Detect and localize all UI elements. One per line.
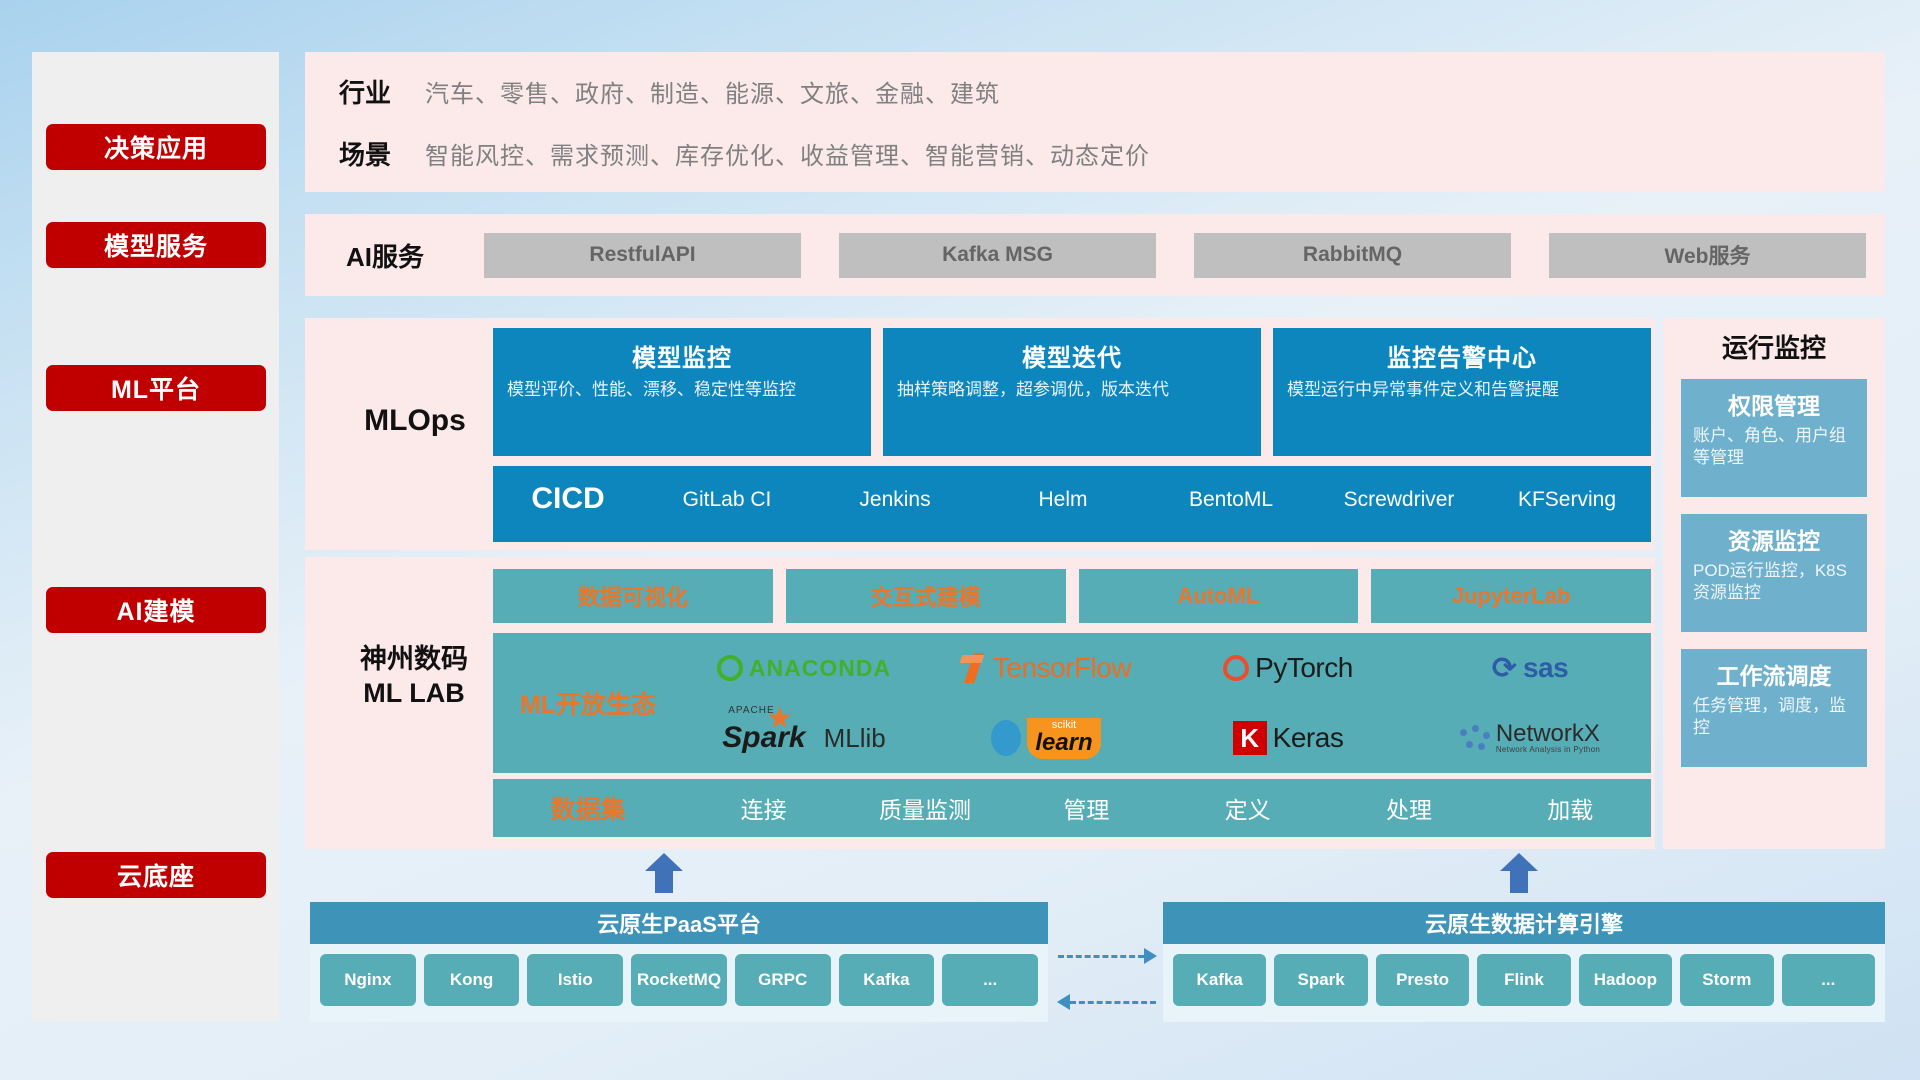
anaconda-wordmark: ANACONDA (749, 655, 891, 682)
ml-lab-label-line2: ML LAB (363, 678, 465, 708)
networkx-tagline: Network Analysis in Python (1496, 746, 1600, 754)
connector-arrow-right (1144, 948, 1157, 964)
ml-open-ecosystem-panel: ML开放生态 ANACONDA TensorFlow PyTorch (493, 633, 1651, 773)
lab-chip-jupyterlab[interactable]: JupyterLab (1371, 569, 1651, 623)
engine-chip-hadoop[interactable]: Hadoop (1579, 954, 1672, 1006)
mlops-card-desc: 抽样策略调整，超参调优，版本迭代 (897, 379, 1247, 401)
run-monitor-card-resource[interactable]: 资源监控 POD运行监控，K8S资源监控 (1681, 514, 1867, 632)
ml-lab-label: 神州数码 ML LAB (319, 643, 509, 711)
networkx-logo: NetworkX Network Analysis in Python (1460, 722, 1600, 754)
industry-label: 行业 (305, 73, 425, 110)
cicd-item-screwdriver[interactable]: Screwdriver (1315, 466, 1483, 512)
run-monitor-title: 运行监控 (1663, 328, 1885, 365)
engine-chip-more[interactable]: ... (1782, 954, 1875, 1006)
left-rail: 决策应用 模型服务 ML平台 AI建模 云底座 (32, 52, 279, 1022)
sas-logo: ⟳ sas (1492, 651, 1568, 686)
engine-chip-flink[interactable]: Flink (1477, 954, 1570, 1006)
scenario-value: 智能风控、需求预测、库存优化、收益管理、智能营销、动态定价 (425, 136, 1150, 171)
anaconda-ring-icon (717, 655, 743, 681)
connector-arrow-left (1057, 994, 1070, 1010)
keras-wordmark: Keras (1273, 722, 1344, 754)
engine-chip-kafka[interactable]: Kafka (1173, 954, 1266, 1006)
sas-wordmark: sas (1523, 652, 1568, 684)
run-monitor-card-desc: 任务管理，调度，监控 (1693, 695, 1855, 739)
engine-chip-storm[interactable]: Storm (1680, 954, 1773, 1006)
spark-apache-word: APACHE (728, 705, 774, 716)
rail-chip-decision-app[interactable]: 决策应用 (46, 124, 266, 170)
paas-chip-more[interactable]: ... (942, 954, 1038, 1006)
mlops-card-desc: 模型运行中异常事件定义和告警提醒 (1287, 379, 1637, 401)
connector-dash-right (1058, 955, 1144, 958)
run-monitor-card-title: 权限管理 (1693, 387, 1855, 421)
cicd-title: CICD (493, 466, 643, 516)
paas-chip-row: Nginx Kong Istio RocketMQ GRPC Kafka ... (310, 944, 1048, 1016)
mlops-card-title: 模型迭代 (897, 338, 1247, 373)
cicd-item-kfserving[interactable]: KFServing (1483, 466, 1651, 512)
mlops-card-model-iteration[interactable]: 模型迭代 抽样策略调整，超参调优，版本迭代 (883, 328, 1261, 456)
ai-service-chip-kafka-msg[interactable]: Kafka MSG (839, 233, 1156, 278)
rail-chip-ai-modeling[interactable]: AI建模 (46, 587, 266, 633)
anaconda-logo: ANACONDA (717, 655, 891, 682)
ml-lab-band: 神州数码 ML LAB 数据可视化 交互式建模 AutoML JupyterLa… (305, 557, 1655, 849)
run-monitor-card-desc: 账户、角色、用户组等管理 (1693, 425, 1855, 469)
ai-service-chip-web-service[interactable]: Web服务 (1549, 233, 1866, 278)
tensorflow-mark-icon (961, 653, 987, 683)
sas-swirl-icon: ⟳ (1492, 651, 1517, 686)
cicd-item-gitlab-ci[interactable]: GitLab CI (643, 466, 811, 512)
paas-chip-rocketmq[interactable]: RocketMQ (631, 954, 727, 1006)
dataset-item-quality[interactable]: 质量监测 (844, 791, 1005, 825)
pytorch-flame-icon (1223, 655, 1249, 681)
up-arrow-paas (645, 853, 683, 893)
rail-chip-cloud-base[interactable]: 云底座 (46, 852, 266, 898)
scikit-blob-icon (991, 720, 1021, 756)
ml-lab-label-line1: 神州数码 (360, 644, 468, 674)
dataset-item-manage[interactable]: 管理 (1006, 791, 1167, 825)
paas-chip-nginx[interactable]: Nginx (320, 954, 416, 1006)
ml-open-ecosystem-title: ML开放生态 (493, 685, 683, 721)
dataset-title: 数据集 (493, 790, 683, 826)
keras-k-icon: K (1233, 721, 1267, 755)
industry-scenario-band: 行业 汽车、零售、政府、制造、能源、文旅、金融、建筑 场景 智能风控、需求预测、… (305, 52, 1885, 192)
data-engine-box: 云原生数据计算引擎 Kafka Spark Presto Flink Hadoo… (1163, 902, 1885, 1022)
mllib-wordmark: MLlib (824, 723, 886, 754)
industry-row: 行业 汽车、零售、政府、制造、能源、文旅、金融、建筑 (305, 52, 1885, 122)
ai-service-label: AI服务 (305, 237, 465, 274)
ai-service-chip-restfulapi[interactable]: RestfulAPI (484, 233, 801, 278)
up-arrow-engine (1500, 853, 1538, 893)
dataset-item-define[interactable]: 定义 (1167, 791, 1328, 825)
networkx-wordmark: NetworkX (1496, 722, 1600, 746)
ml-lab-tool-row: 数据可视化 交互式建模 AutoML JupyterLab (493, 569, 1651, 623)
pytorch-logo: PyTorch (1223, 652, 1353, 684)
paas-chip-istio[interactable]: Istio (527, 954, 623, 1006)
run-monitor-card-desc: POD运行监控，K8S资源监控 (1693, 560, 1855, 604)
dataset-item-load[interactable]: 加载 (1490, 791, 1651, 825)
lab-chip-automl[interactable]: AutoML (1079, 569, 1359, 623)
paas-chip-grpc[interactable]: GRPC (735, 954, 831, 1006)
run-monitor-card-workflow[interactable]: 工作流调度 任务管理，调度，监控 (1681, 649, 1867, 767)
paas-platform-title: 云原生PaaS平台 (310, 902, 1048, 944)
cicd-item-jenkins[interactable]: Jenkins (811, 466, 979, 512)
ai-service-chip-rabbitmq[interactable]: RabbitMQ (1194, 233, 1511, 278)
dataset-item-connect[interactable]: 连接 (683, 791, 844, 825)
engine-chip-presto[interactable]: Presto (1376, 954, 1469, 1006)
scikit-pill-icon: scikit learn (1027, 718, 1100, 759)
ai-service-band: AI服务 RestfulAPI Kafka MSG RabbitMQ Web服务 (305, 214, 1885, 296)
run-monitor-card-title: 资源监控 (1693, 522, 1855, 556)
dataset-row: 数据集 连接 质量监测 管理 定义 处理 加载 (493, 779, 1651, 837)
rail-chip-ml-platform[interactable]: ML平台 (46, 365, 266, 411)
paas-platform-box: 云原生PaaS平台 Nginx Kong Istio RocketMQ GRPC… (310, 902, 1048, 1022)
mlops-band: MLOps 模型监控 模型评价、性能、漂移、稳定性等监控 模型迭代 抽样策略调整… (305, 318, 1655, 550)
scenario-row: 场景 智能风控、需求预测、库存优化、收益管理、智能营销、动态定价 (305, 122, 1885, 184)
rail-chip-model-service[interactable]: 模型服务 (46, 222, 266, 268)
mlops-label: MLOps (325, 404, 505, 438)
mlops-card-title: 模型监控 (507, 338, 857, 373)
spark-mllib-logo: ★ APACHE Spark MLlib (722, 721, 886, 755)
keras-logo: K Keras (1233, 721, 1344, 755)
tensorflow-logo: TensorFlow (961, 652, 1131, 684)
dataset-item-process[interactable]: 处理 (1328, 791, 1489, 825)
connector-dash-left (1070, 1001, 1156, 1004)
architecture-diagram: 决策应用 模型服务 ML平台 AI建模 云底座 行业 汽车、零售、政府、制造、能… (0, 0, 1920, 1080)
run-monitor-card-permission[interactable]: 权限管理 账户、角色、用户组等管理 (1681, 379, 1867, 497)
run-monitor-card-title: 工作流调度 (1693, 657, 1855, 691)
pytorch-wordmark: PyTorch (1255, 652, 1353, 684)
paas-chip-kong[interactable]: Kong (424, 954, 520, 1006)
logo-grid: ANACONDA TensorFlow PyTorch ⟳ sas (683, 633, 1651, 773)
cicd-item-helm[interactable]: Helm (979, 466, 1147, 512)
cicd-bar: CICD GitLab CI Jenkins Helm BentoML Scre… (493, 466, 1651, 542)
engine-chip-row: Kafka Spark Presto Flink Hadoop Storm ..… (1163, 944, 1885, 1016)
scikit-learn-word: learn (1035, 731, 1092, 755)
engine-chip-spark[interactable]: Spark (1274, 954, 1367, 1006)
data-engine-title: 云原生数据计算引擎 (1163, 902, 1885, 944)
scikit-learn-logo: scikit learn (991, 718, 1100, 759)
paas-chip-kafka[interactable]: Kafka (839, 954, 935, 1006)
lab-chip-data-visualization[interactable]: 数据可视化 (493, 569, 773, 623)
cicd-item-bentoml[interactable]: BentoML (1147, 466, 1315, 512)
mlops-card-model-monitoring[interactable]: 模型监控 模型评价、性能、漂移、稳定性等监控 (493, 328, 871, 456)
networkx-graph-icon (1460, 725, 1490, 751)
industry-value: 汽车、零售、政府、制造、能源、文旅、金融、建筑 (425, 74, 1000, 109)
mlops-card-desc: 模型评价、性能、漂移、稳定性等监控 (507, 379, 857, 401)
lab-chip-interactive-modeling[interactable]: 交互式建模 (786, 569, 1066, 623)
run-monitor-panel: 运行监控 权限管理 账户、角色、用户组等管理 资源监控 POD运行监控，K8S资… (1663, 318, 1885, 849)
tensorflow-wordmark: TensorFlow (993, 652, 1131, 684)
scenario-label: 场景 (305, 135, 425, 172)
mlops-card-alert-center[interactable]: 监控告警中心 模型运行中异常事件定义和告警提醒 (1273, 328, 1651, 456)
mlops-card-title: 监控告警中心 (1287, 338, 1637, 373)
